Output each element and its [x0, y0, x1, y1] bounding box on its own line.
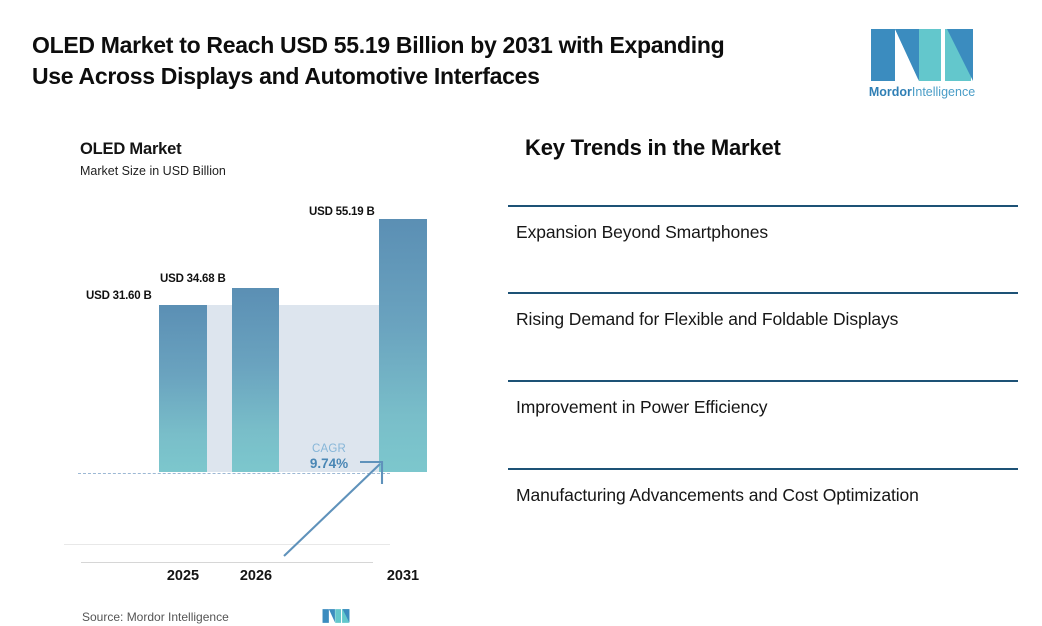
page-title-line-2: Use Across Displays and Automotive Inter…: [32, 61, 822, 92]
brand-name-bold: Mordor: [869, 85, 912, 99]
page-title-line-1: OLED Market to Reach USD 55.19 Billion b…: [32, 30, 822, 61]
chart-source: Source: Mordor Intelligence: [82, 610, 229, 624]
bar-label-2026: USD 34.68 B: [160, 273, 226, 285]
bar-2031: [379, 219, 427, 472]
x-tick-2026: 2026: [225, 568, 287, 584]
chart-subtitle: Market Size in USD Billion: [80, 164, 226, 178]
trend-item-3[interactable]: Improvement in Power Efficiency: [508, 380, 1018, 468]
chart-title: OLED Market: [80, 140, 181, 159]
chart-card: OLED Market Market Size in USD Billion U…: [64, 128, 390, 545]
bar-label-2031: USD 55.19 B: [309, 206, 375, 218]
page-title: OLED Market to Reach USD 55.19 Billion b…: [32, 30, 822, 92]
mordor-m-logo-icon: [869, 27, 975, 83]
brand-logo: MordorIntelligence: [866, 27, 978, 103]
x-tick-2025: 2025: [152, 568, 214, 584]
bar-2025: [159, 305, 207, 472]
trend-item-label: Expansion Beyond Smartphones: [508, 207, 1018, 246]
cagr-value: 9.74%: [300, 456, 358, 471]
cagr-label: CAGR: [300, 443, 358, 455]
chart-baseline: [81, 562, 373, 563]
x-tick-2031: 2031: [372, 568, 434, 584]
trend-item-label: Rising Demand for Flexible and Foldable …: [508, 294, 1018, 333]
brand-wordmark: MordorIntelligence: [866, 85, 978, 99]
mordor-m-logo-icon: [322, 606, 350, 626]
key-trends-heading: Key Trends in the Market: [525, 135, 781, 161]
gap-bar-1: [207, 305, 232, 472]
bar-label-2025: USD 31.60 B: [86, 290, 152, 302]
trend-item-label: Improvement in Power Efficiency: [508, 382, 1018, 421]
trend-item-1[interactable]: Expansion Beyond Smartphones: [508, 205, 1018, 292]
brand-name-light: Intelligence: [912, 85, 975, 99]
cagr-annotation: CAGR 9.74%: [300, 443, 358, 471]
key-trends-panel: Key Trends in the Market Expansion Beyon…: [508, 130, 1018, 550]
trend-item-2[interactable]: Rising Demand for Flexible and Foldable …: [508, 292, 1018, 380]
trend-item-4[interactable]: Manufacturing Advancements and Cost Opti…: [508, 468, 1018, 550]
bar-2026: [232, 288, 279, 472]
trend-item-label: Manufacturing Advancements and Cost Opti…: [508, 470, 1018, 509]
chart-plot-area: USD 31.60 B USD 34.68 B USD 55.19 B CAGR…: [64, 218, 390, 472]
